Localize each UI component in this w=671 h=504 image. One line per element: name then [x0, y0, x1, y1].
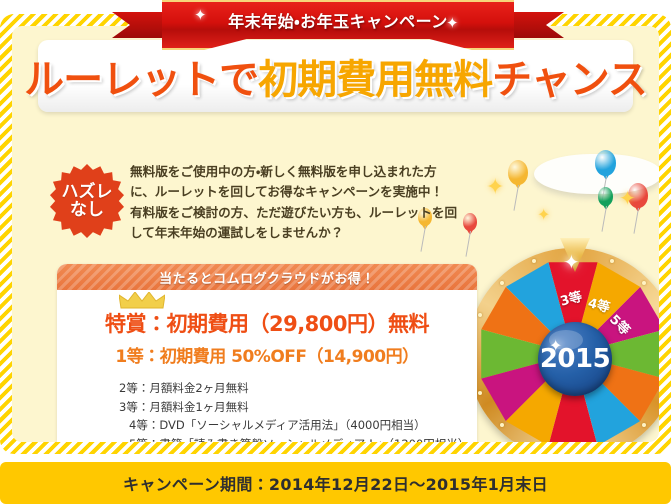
description-line: して年末年始の運試しをしませんか？: [130, 223, 460, 243]
balloon-icon: [595, 150, 616, 176]
prize-list-item: 5等：書籍「読み書き算盤ソーシャルメディア！」（1200円相当）: [119, 435, 477, 442]
wheel-hub: 2015: [538, 322, 612, 396]
sparkle-icon: ✦: [486, 175, 504, 200]
badge-line-2: なし: [70, 201, 104, 219]
prize-list-item: 3等：月額料金1ヶ月無料: [119, 398, 477, 417]
top-prize-text: 特賞：初期費用（29,800円）無料: [57, 308, 477, 338]
prize-panel-body: 特賞：初期費用（29,800円）無料 1等：初期費用 50%OFF（14,900…: [57, 290, 477, 442]
sparkle-icon: ✦: [549, 336, 562, 355]
crown-icon: [119, 292, 165, 310]
campaign-description: 無料版をご使用中の方・新しく無料版を申し込まれた方 に、ルーレットを回してお得な…: [130, 162, 460, 244]
campaign-period-text: キャンペーン期間：2014年12月22日〜2015年1月末日: [123, 471, 548, 495]
description-line: 有料版をご検討の方、ただ遊びたい方も、ルーレットを回: [130, 203, 460, 223]
sparkle-icon: ✦: [537, 205, 550, 224]
title-part-2: 初期費用無料: [258, 57, 492, 103]
badge-line-1: ハズレ: [62, 183, 113, 201]
prize-panel: 当たるとコムログクラウドがお得！ 特賞：初期費用（29,800円）無料 1等：初…: [57, 264, 477, 442]
no-loss-badge: ハズレ なし: [50, 164, 124, 238]
prize-panel-header: 当たるとコムログクラウドがお得！: [57, 264, 477, 290]
campaign-banner: ✦✦✦ ハズレ なし 無料版をご使用中の方・新しく無料版を申し込まれた方 に、ル…: [0, 0, 671, 504]
sparkle-icon: ✦: [619, 186, 636, 210]
second-prize-text: 1等：初期費用 50%OFF（14,900円）: [57, 342, 477, 367]
sparkle-icon: ✦: [194, 6, 207, 24]
roulette-wheel[interactable]: 特賞1等2等3等4等5等特賞1等2等3等4等5等 2015 ✦ ✦ ✦: [467, 248, 659, 442]
campaign-period-bar: キャンペーン期間：2014年12月22日〜2015年1月末日: [0, 462, 671, 504]
sparkle-icon: ✦: [563, 250, 580, 274]
page-title: ルーレットで初期費用無料チャンス: [24, 47, 647, 105]
title-part-1: ルーレットで: [24, 57, 258, 103]
title-part-3: チャンス: [492, 57, 647, 103]
balloon-icon: [598, 187, 613, 206]
prize-list-item: 2等：月額料金2ヶ月無料: [119, 379, 477, 398]
minor-prize-list: 2等：月額料金2ヶ月無料 3等：月額料金1ヶ月無料 4等：DVD「ソーシャルメデ…: [57, 379, 477, 442]
prize-list-item: 4等：DVD「ソーシャルメディア活用法」（4000円相当）: [119, 416, 477, 435]
description-line: 無料版をご使用中の方・新しく無料版を申し込まれた方: [130, 162, 460, 182]
title-panel: ルーレットで初期費用無料チャンス: [38, 40, 633, 112]
description-line: に、ルーレットを回してお得なキャンペーンを実施中！: [130, 182, 460, 202]
balloon-icon: [508, 160, 528, 185]
campaign-ribbon: 年末年始・お年玉キャンペーン ✦ ✦: [128, 0, 548, 46]
sparkle-icon: ✦: [446, 14, 459, 32]
balloon-icon: [463, 213, 477, 231]
ribbon-label: 年末年始・お年玉キャンペーン: [162, 0, 514, 40]
